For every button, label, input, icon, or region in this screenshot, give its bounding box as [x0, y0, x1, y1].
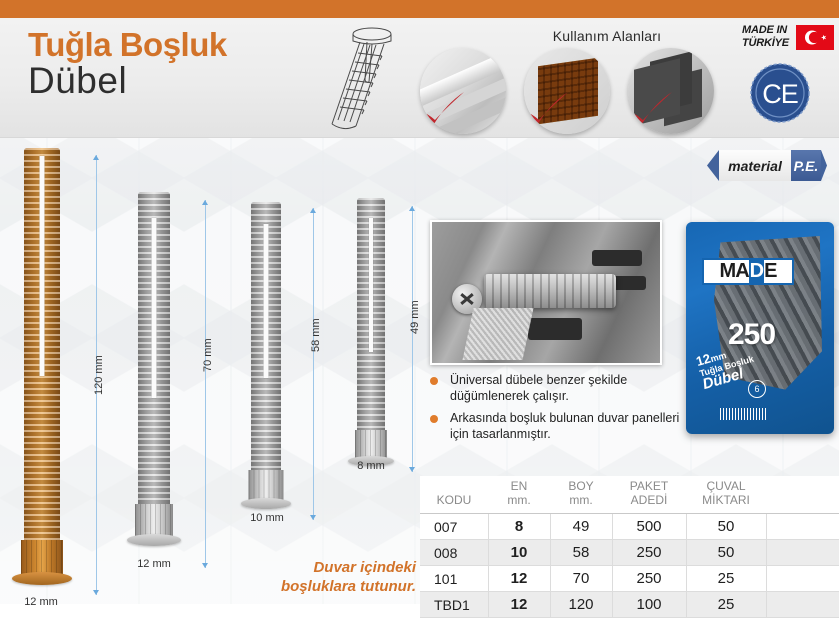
dimension-label-120-width: 12 mm: [6, 596, 76, 608]
material-value: P.E.: [791, 150, 821, 181]
cell-blank: [766, 566, 839, 592]
photo-dowel: [484, 274, 616, 308]
dowel-49: [347, 198, 395, 484]
th-cuval-miktari: ÇUVAL MİKTARI: [686, 476, 766, 514]
table-row: 007 8 49 500 50: [420, 514, 839, 540]
cell-en: 12: [488, 592, 550, 618]
cell-kodu: 007: [420, 514, 488, 540]
installation-photo: [430, 220, 662, 365]
made-in-text: MADE IN TÜRKİYE: [742, 24, 789, 50]
table-row: 008 10 58 250 50: [420, 540, 839, 566]
cell-en: 12: [488, 566, 550, 592]
cell-en: 10: [488, 540, 550, 566]
tagline-line-1: Duvar içindeki: [196, 558, 416, 577]
package-brand-logo: MADE: [702, 258, 794, 285]
product-package: MADE 250 12mm Tuğla Boşluk Dübel 6: [686, 222, 834, 434]
table-row: 101 12 70 250 25: [420, 566, 839, 592]
usage-item-gypsum-board: [420, 48, 506, 134]
usage-areas-title: Kullanım Alanları: [497, 28, 717, 44]
product-spec-sheet: Tuğla Boşluk Dübel Kullanım Alanları: [0, 0, 839, 604]
tagline: Duvar içindeki boşluklara tutunur.: [196, 558, 416, 596]
dowel-120: [10, 148, 74, 604]
package-circle-mark: 6: [748, 380, 766, 398]
package-bag: MADE 250 12mm Tuğla Boşluk Dübel 6: [686, 222, 834, 434]
cell-cuval: 25: [686, 566, 766, 592]
bullet-dot-icon: [430, 415, 438, 423]
page-subtitle: Dübel: [28, 60, 127, 102]
th-boy: BOY mm.: [550, 476, 612, 514]
th-kodu: KODU: [420, 476, 488, 514]
cell-kodu: 101: [420, 566, 488, 592]
usage-areas-icons: [420, 48, 730, 134]
dimension-label-120-length: 120 mm: [93, 355, 105, 395]
svg-text:CE: CE: [762, 79, 798, 109]
photo-mesh: [462, 308, 533, 360]
dimension-line-70: [205, 200, 206, 568]
usage-item-hollow-brick: [524, 48, 610, 134]
table-body: 007 8 49 500 50 008 10 58 250 50 101: [420, 514, 839, 618]
dimension-label-70-width: 12 mm: [119, 558, 189, 570]
dowel-70: [126, 192, 182, 572]
table-header-row: KODU EN mm. BOY mm. PAKET ADEDİ: [420, 476, 839, 514]
cell-cuval: 50: [686, 514, 766, 540]
cell-boy: 120: [550, 592, 612, 618]
cell-cuval: 50: [686, 540, 766, 566]
turkish-flag-icon: [796, 25, 834, 50]
cell-cuval: 25: [686, 592, 766, 618]
th-blank: [766, 476, 839, 514]
cell-blank: [766, 540, 839, 566]
cell-paket: 100: [612, 592, 686, 618]
cell-paket: 250: [612, 566, 686, 592]
dowel-lineart-icon: [290, 20, 410, 138]
feature-bullets: Üniversal dübele benzer şekilde düğümlen…: [428, 372, 698, 448]
dowel-58: [240, 202, 292, 532]
cell-blank: [766, 592, 839, 618]
made-in-turkiye-badge: MADE IN TÜRKİYE: [742, 24, 834, 54]
feature-bullet-2-text: Arkasında boşluk bulunan duvar panelleri…: [450, 411, 679, 441]
specification-table: KODU EN mm. BOY mm. PAKET ADEDİ: [420, 476, 839, 604]
check-icon: [628, 90, 674, 130]
dimension-label-70-length: 70 mm: [202, 338, 214, 372]
cell-en: 8: [488, 514, 550, 540]
usage-item-concrete-panel: [628, 48, 714, 134]
cell-boy: 58: [550, 540, 612, 566]
package-barcode: [720, 408, 766, 420]
brand-mid: D: [749, 260, 764, 283]
cell-paket: 500: [612, 514, 686, 540]
check-icon: [420, 90, 466, 130]
feature-bullet-1: Üniversal dübele benzer şekilde düğümlen…: [428, 372, 698, 404]
th-en: EN mm.: [488, 476, 550, 514]
dimension-label-58-length: 58 mm: [310, 318, 322, 352]
check-icon: [524, 90, 570, 130]
dimension-line-49: [412, 206, 413, 472]
feature-bullet-1-text: Üniversal dübele benzer şekilde düğümlen…: [450, 373, 627, 403]
dimension-label-58-width: 10 mm: [232, 512, 302, 524]
dimension-label-49-width: 8 mm: [336, 460, 406, 472]
material-badge: material P.E.: [697, 150, 827, 181]
page-title: Tuğla Boşluk: [28, 26, 227, 64]
brand-right: E: [764, 260, 776, 283]
cell-kodu: 008: [420, 540, 488, 566]
dimension-line-58: [313, 208, 314, 520]
ce-mark-icon: CE: [748, 62, 814, 124]
table-row: TBD1 12 120 100 25: [420, 592, 839, 618]
cell-boy: 70: [550, 566, 612, 592]
cell-kodu: TBD1: [420, 592, 488, 618]
tagline-line-2: boşluklara tutunur.: [196, 577, 416, 596]
brand-left: MA: [720, 260, 749, 283]
bullet-dot-icon: [430, 377, 438, 385]
cell-boy: 49: [550, 514, 612, 540]
cell-paket: 250: [612, 540, 686, 566]
th-paket-adedi: PAKET ADEDİ: [612, 476, 686, 514]
cell-blank: [766, 514, 839, 540]
material-label: material: [719, 150, 791, 181]
feature-bullet-2: Arkasında boşluk bulunan duvar panelleri…: [428, 410, 698, 442]
top-orange-bar: [0, 0, 839, 18]
dimension-label-49-length: 49 mm: [409, 300, 421, 334]
